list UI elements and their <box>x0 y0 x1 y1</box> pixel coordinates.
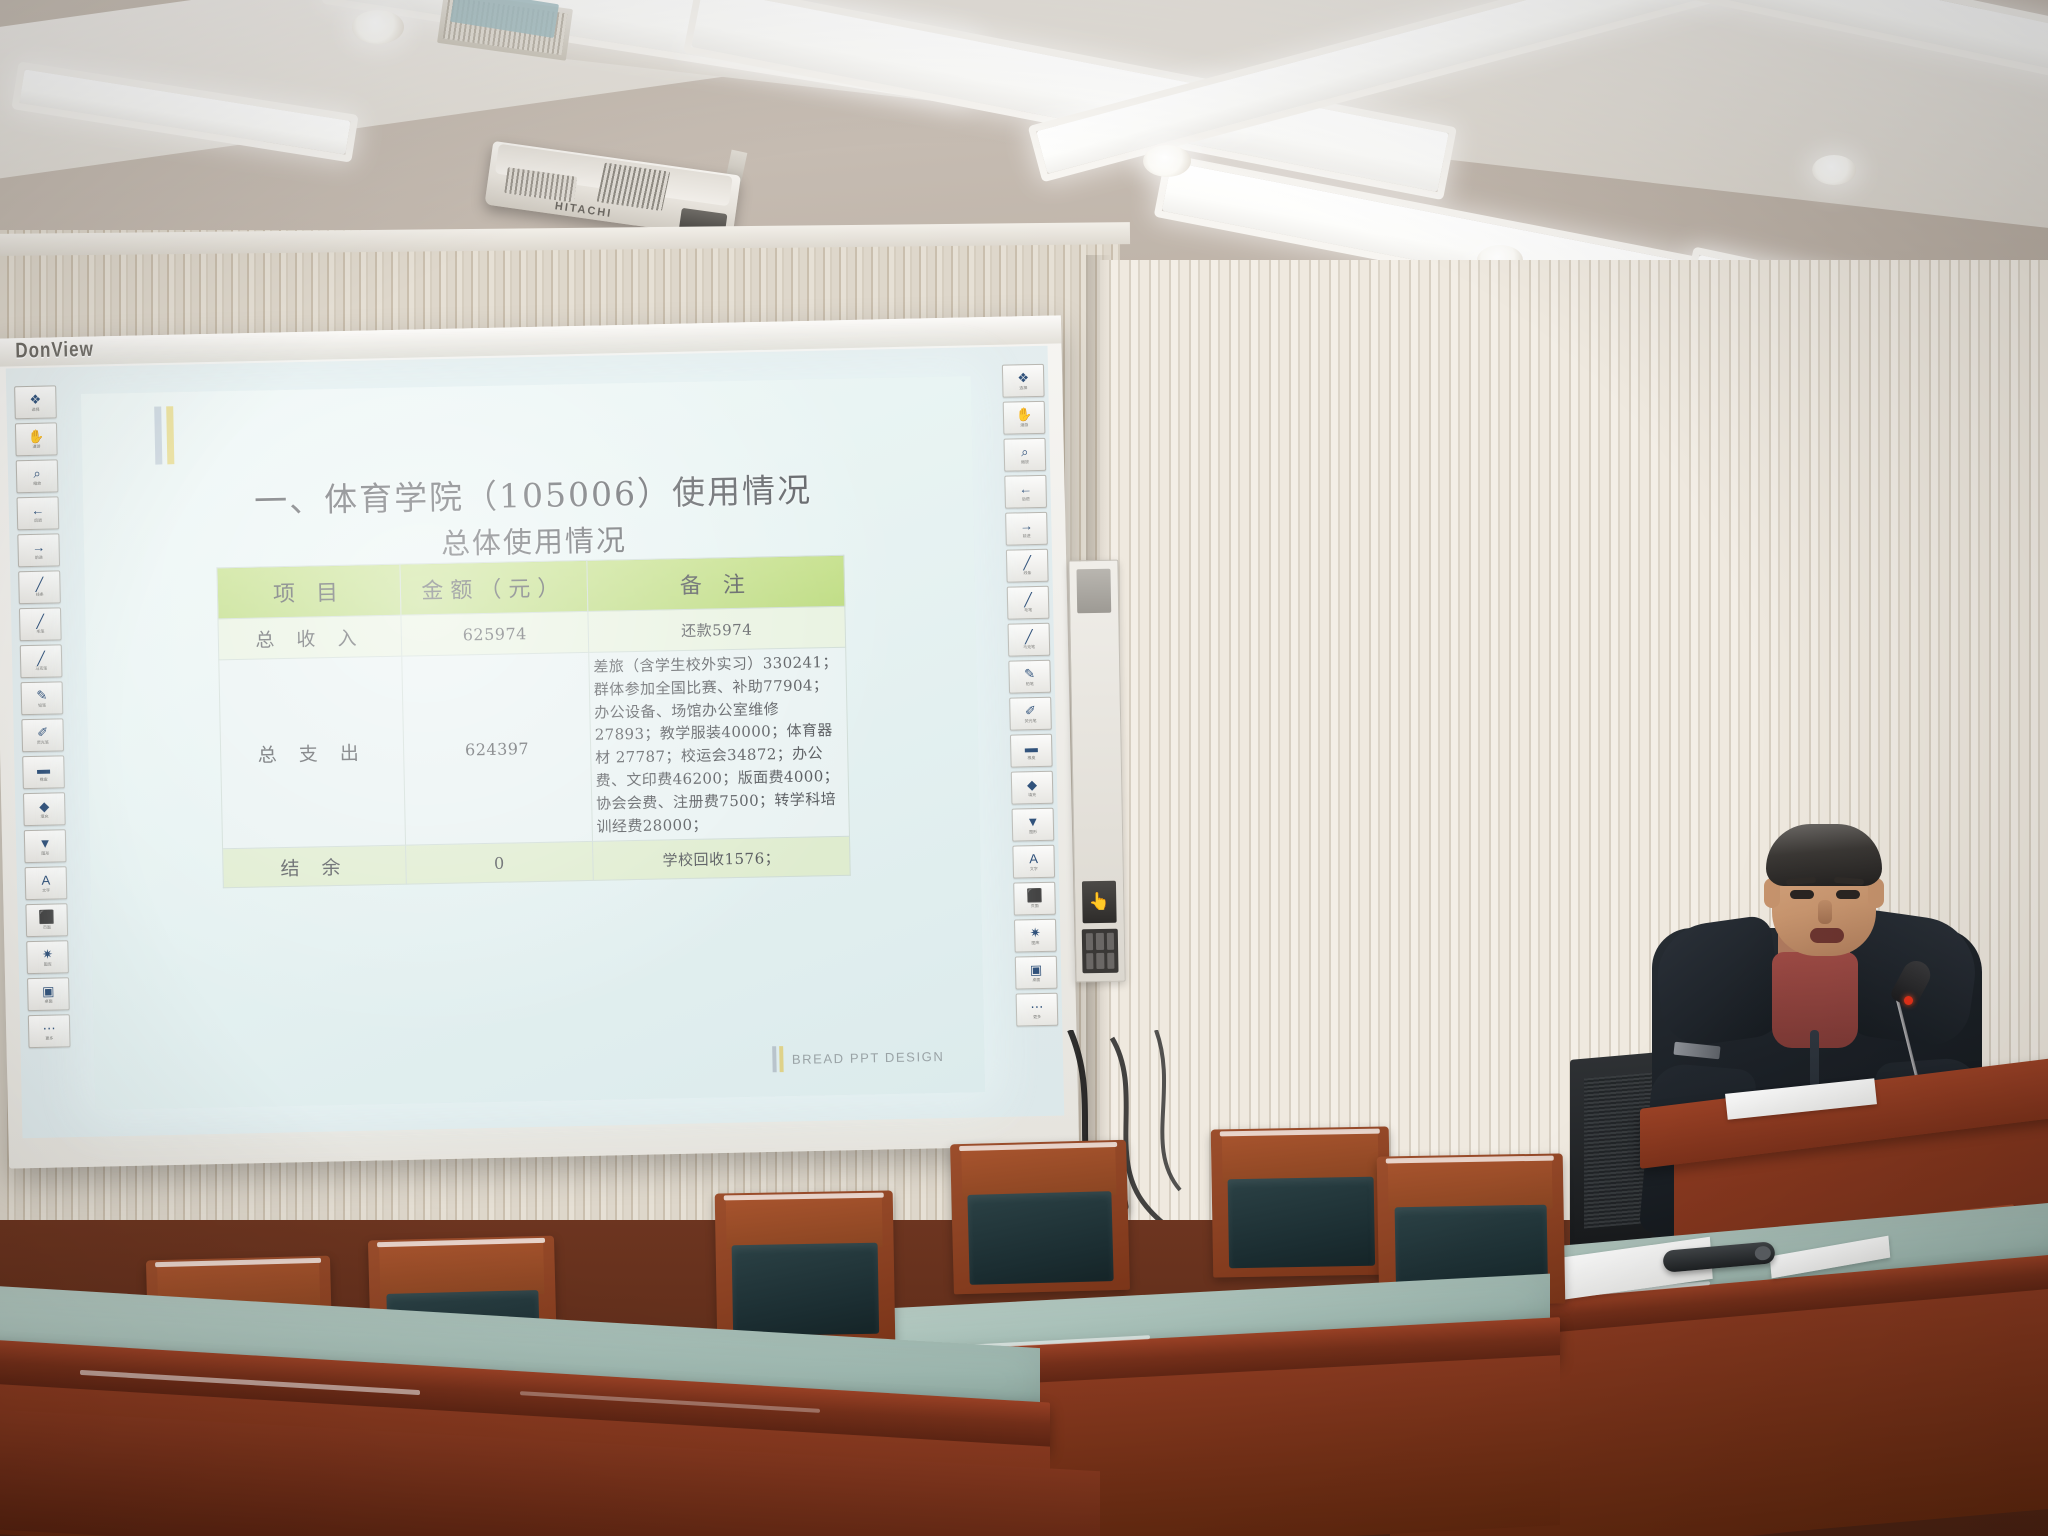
tool-caption: 橡皮 <box>40 777 48 782</box>
tool-glyph: → <box>1020 519 1033 532</box>
tool-glyph: ▣ <box>42 985 55 998</box>
tool-glyph: ✷ <box>42 948 53 961</box>
interactive-whiteboard[interactable]: DonView ❖选择✋漫游⌕缩放←后退→前进╱线条╱毛笔╱马克笔✎铅笔✐荧光笔… <box>0 315 1079 1168</box>
projector-vent-grille <box>597 163 671 211</box>
more-tool-icon[interactable]: ⋯更多 <box>28 1014 71 1048</box>
tool-glyph: ✋ <box>28 430 44 443</box>
tool-glyph: ⋯ <box>42 1022 55 1035</box>
column-header-amount: 金额（元） <box>400 560 588 615</box>
eye-right <box>1836 890 1860 899</box>
stamp-tool-icon[interactable]: ✷图库 <box>26 940 69 974</box>
control-panel-display <box>1076 569 1111 614</box>
tool-caption: 缩放 <box>1021 459 1029 464</box>
row-amount-value: 624397 <box>402 652 593 845</box>
ceiling-downlight <box>1812 155 1856 185</box>
tool-caption: 线条 <box>1023 570 1031 575</box>
tool-caption: 毛笔 <box>36 629 44 634</box>
select-tool-icon[interactable]: ❖选择 <box>14 385 57 419</box>
tool-caption: 铅笔 <box>1026 681 1034 686</box>
brush-tool-icon[interactable]: ╱毛笔 <box>19 607 62 641</box>
nose <box>1818 900 1832 924</box>
budget-table: 项 目 金额（元） 备 注 总 收 入 625974 还款5974 总 支 出 <box>216 555 850 889</box>
tool-caption: 填充 <box>40 814 48 819</box>
tool-caption: 文字 <box>1030 866 1038 871</box>
row-note-value: 差旅（含学生校外实习）330241；群体参加全国比赛、补助77904；办公设备、… <box>589 647 850 841</box>
shape-tool-icon[interactable]: ▼图形 <box>1012 808 1055 842</box>
stamp-tool-icon[interactable]: ✷图库 <box>1014 919 1057 953</box>
pencil-tool-icon[interactable]: ✎铅笔 <box>21 681 64 715</box>
tool-caption: 填充 <box>1028 792 1036 797</box>
tool-glyph: ✐ <box>1025 704 1036 717</box>
tool-caption: 缩放 <box>33 481 41 486</box>
zoom-tool-icon[interactable]: ⌕缩放 <box>16 459 59 493</box>
fill-tool-icon[interactable]: ◆填充 <box>1011 771 1054 805</box>
chair <box>1211 1126 1392 1277</box>
hair <box>1766 824 1882 886</box>
projected-slide: 一、体育学院（105006）使用情况 总体使用情况 项 目 金额（元） 备 注 … <box>81 376 985 1110</box>
tool-caption: 后退 <box>1022 496 1030 501</box>
slide-footer-bars-icon <box>773 1046 785 1072</box>
tool-caption: 文字 <box>42 888 50 893</box>
whiteboard-toolbar-right[interactable]: ❖选择✋漫游⌕缩放←后退→前进╱线条╱毛笔╱马克笔✎铅笔✐荧光笔▬橡皮◆填充▼图… <box>1000 364 1060 1027</box>
tool-glyph: ▼ <box>1026 815 1039 828</box>
tool-caption: 图形 <box>41 851 49 856</box>
forward-arrow-tool-icon[interactable]: →前进 <box>17 533 60 567</box>
back-arrow-tool-icon[interactable]: ←后退 <box>17 496 60 530</box>
tool-caption: 荧光笔 <box>37 740 49 745</box>
back-arrow-tool-icon[interactable]: ←后退 <box>1004 475 1047 509</box>
tool-glyph: ✎ <box>1024 667 1035 680</box>
tool-glyph: ╱ <box>37 652 45 665</box>
tool-caption: 线条 <box>36 592 44 597</box>
tool-caption: 选择 <box>32 407 40 412</box>
select-tool-icon[interactable]: ❖选择 <box>1002 364 1045 398</box>
tool-glyph: ⋯ <box>1030 1000 1043 1013</box>
page-tool-icon[interactable]: ⬛页面 <box>1013 882 1056 916</box>
tool-glyph: ╱ <box>1023 556 1031 569</box>
tool-glyph: ╱ <box>1025 630 1033 643</box>
ceiling-downlight <box>352 10 404 44</box>
eraser-tool-icon[interactable]: ▬橡皮 <box>22 755 65 789</box>
tool-caption: 更多 <box>45 1036 53 1041</box>
tool-glyph: ◆ <box>39 800 49 813</box>
tool-glyph: ◆ <box>1027 778 1037 791</box>
thin-pen-tool-icon[interactable]: ╱线条 <box>1006 549 1049 583</box>
tool-glyph: ⬛ <box>1026 889 1042 902</box>
tool-caption: 更多 <box>1033 1014 1041 1019</box>
text-tool-icon[interactable]: A文字 <box>1012 845 1055 879</box>
column-header-note: 备 注 <box>587 555 845 611</box>
marker-tool-icon[interactable]: ╱马克笔 <box>20 644 63 678</box>
row-item-label: 总 支 出 <box>219 656 406 849</box>
wall-control-panel[interactable]: 👆 <box>1068 560 1125 983</box>
row-item-label: 总 收 入 <box>218 615 402 660</box>
slide-footer-text: BREAD PPT DESIGN <box>792 1048 945 1066</box>
tool-glyph: ▼ <box>39 837 52 850</box>
tool-glyph: ✎ <box>36 689 47 702</box>
tool-glyph: ← <box>31 504 44 517</box>
page-tool-icon[interactable]: ⬛页面 <box>25 903 68 937</box>
tool-caption: 桌面 <box>1032 977 1040 982</box>
fill-tool-icon[interactable]: ◆填充 <box>23 792 66 826</box>
screen-tool-icon[interactable]: ▣桌面 <box>27 977 70 1011</box>
whiteboard-toolbar-left[interactable]: ❖选择✋漫游⌕缩放←后退→前进╱线条╱毛笔╱马克笔✎铅笔✐荧光笔▬橡皮◆填充▼图… <box>12 385 72 1048</box>
tool-caption: 铅笔 <box>38 703 46 708</box>
thin-pen-tool-icon[interactable]: ╱线条 <box>18 570 61 604</box>
table-row: 总 支 出 624397 差旅（含学生校外实习）330241；群体参加全国比赛、… <box>219 647 850 849</box>
slide-accent-mark <box>154 406 181 465</box>
tool-caption: 马克笔 <box>1023 644 1035 649</box>
brush-tool-icon[interactable]: ╱毛笔 <box>1007 586 1050 620</box>
mouth <box>1810 928 1844 943</box>
tool-caption: 前进 <box>35 555 43 560</box>
tool-glyph: ╱ <box>1024 593 1032 606</box>
marker-tool-icon[interactable]: ╱马克笔 <box>1008 623 1051 657</box>
forward-arrow-tool-icon[interactable]: →前进 <box>1005 512 1048 546</box>
slide-footer: BREAD PPT DESIGN <box>773 1043 945 1072</box>
tool-glyph: A <box>41 874 50 887</box>
chair <box>950 1140 1130 1295</box>
tool-glyph: ▣ <box>1030 963 1043 976</box>
tool-glyph: ✋ <box>1016 408 1032 421</box>
tool-caption: 橡皮 <box>1027 755 1035 760</box>
touch-sensor-icon[interactable]: 👆 <box>1082 881 1117 924</box>
row-amount-value: 625974 <box>401 611 589 656</box>
whiteboard-surface[interactable]: ❖选择✋漫游⌕缩放←后退→前进╱线条╱毛笔╱马克笔✎铅笔✐荧光笔▬橡皮◆填充▼图… <box>6 346 1065 1139</box>
tool-caption: 漫游 <box>32 444 40 449</box>
tool-caption: 图库 <box>44 962 52 967</box>
hand-tool-icon[interactable]: ✋漫游 <box>1003 401 1046 435</box>
tool-glyph: ❖ <box>29 393 41 406</box>
ceiling-downlight <box>1143 145 1191 177</box>
microphone-led-indicator <box>1904 996 1913 1005</box>
conference-room-scene: HITACHI DonView ❖选择✋漫游⌕缩放←后退→前进╱线条╱毛笔╱马克… <box>0 0 2048 1536</box>
hand-tool-icon[interactable]: ✋漫游 <box>15 422 58 456</box>
zoom-tool-icon[interactable]: ⌕缩放 <box>1003 438 1046 472</box>
tool-glyph: ← <box>1019 482 1032 495</box>
tool-caption: 毛笔 <box>1024 607 1032 612</box>
tool-caption: 马克笔 <box>35 666 47 671</box>
projector-brand-label: HITACHI <box>554 200 613 220</box>
more-tool-icon[interactable]: ⋯更多 <box>1016 993 1059 1027</box>
tool-glyph: ╱ <box>36 615 44 628</box>
tool-glyph: ⌕ <box>33 467 41 480</box>
tool-glyph: ╱ <box>35 578 43 591</box>
tool-caption: 桌面 <box>44 999 52 1004</box>
tool-caption: 页面 <box>43 925 51 930</box>
tool-caption: 图形 <box>1029 829 1037 834</box>
tool-caption: 后退 <box>34 518 42 523</box>
tool-glyph: ✐ <box>37 726 48 739</box>
row-note-value: 还款5974 <box>588 606 846 652</box>
row-item-label: 结 余 <box>223 845 407 888</box>
tool-glyph: ▬ <box>37 763 50 776</box>
tool-caption: 选择 <box>1019 385 1027 390</box>
shape-tool-icon[interactable]: ▼图形 <box>24 829 67 863</box>
tool-glyph: → <box>32 541 45 554</box>
row-note-value: 学校回收1576； <box>592 837 850 881</box>
eraser-tool-icon[interactable]: ▬橡皮 <box>1010 734 1053 768</box>
tool-glyph: ⌕ <box>1021 445 1029 458</box>
tool-caption: 荧光笔 <box>1025 718 1037 723</box>
eye-left <box>1790 890 1814 899</box>
tool-caption: 图库 <box>1031 940 1039 945</box>
tool-glyph: ▬ <box>1025 741 1038 754</box>
text-tool-icon[interactable]: A文字 <box>25 866 68 900</box>
tool-glyph: ❖ <box>1017 371 1029 384</box>
highlighter-tool-icon[interactable]: ✐荧光笔 <box>1009 697 1052 731</box>
column-header-item: 项 目 <box>217 564 401 619</box>
tool-glyph: ✷ <box>1030 926 1041 939</box>
tool-glyph: A <box>1029 852 1038 865</box>
tool-glyph: ⬛ <box>38 911 54 924</box>
pencil-tool-icon[interactable]: ✎铅笔 <box>1008 660 1051 694</box>
whiteboard-brand-label: DonView <box>15 337 94 364</box>
highlighter-tool-icon[interactable]: ✐荧光笔 <box>21 718 64 752</box>
row-amount-value: 0 <box>406 842 594 885</box>
control-panel-keypad[interactable] <box>1082 929 1119 974</box>
screen-tool-icon[interactable]: ▣桌面 <box>1015 956 1058 990</box>
tool-caption: 漫游 <box>1020 422 1028 427</box>
tool-caption: 页面 <box>1031 903 1039 908</box>
tool-caption: 前进 <box>1023 533 1031 538</box>
